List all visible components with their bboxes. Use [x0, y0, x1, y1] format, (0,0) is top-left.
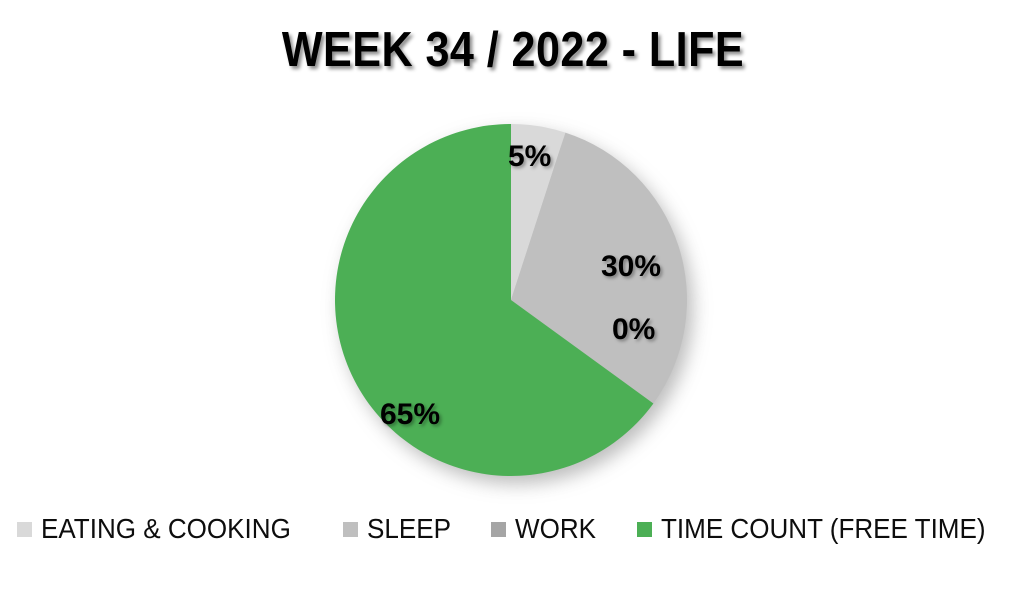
- legend-item-3[interactable]: TIME COUNT (FREE TIME): [637, 515, 1010, 543]
- legend-swatch-work: [491, 522, 506, 537]
- legend-item-0[interactable]: EATING & COOKING: [17, 515, 310, 543]
- data-label-sleep: 30%: [601, 250, 661, 284]
- data-label-free-time: 65%: [380, 398, 440, 432]
- legend-label-2: WORK: [515, 515, 596, 543]
- page-title: WEEK 34 / 2022 - LIFE: [62, 22, 965, 78]
- legend-swatch-eating-cooking: [17, 522, 32, 537]
- data-label-work: 0%: [612, 313, 655, 347]
- data-label-eating-cooking: 5%: [508, 140, 551, 174]
- legend-label-0: EATING & COOKING: [41, 515, 291, 543]
- legend-label-1: SLEEP: [367, 515, 451, 543]
- legend-label-3: TIME COUNT (FREE TIME): [661, 515, 986, 543]
- legend-swatch-sleep: [343, 522, 358, 537]
- legend-swatch-free-time: [637, 522, 652, 537]
- legend-item-1[interactable]: SLEEP: [343, 515, 457, 543]
- chart-legend: EATING & COOKINGSLEEPWORKTIME COUNT (FRE…: [0, 515, 1026, 543]
- legend-item-2[interactable]: WORK: [491, 515, 602, 543]
